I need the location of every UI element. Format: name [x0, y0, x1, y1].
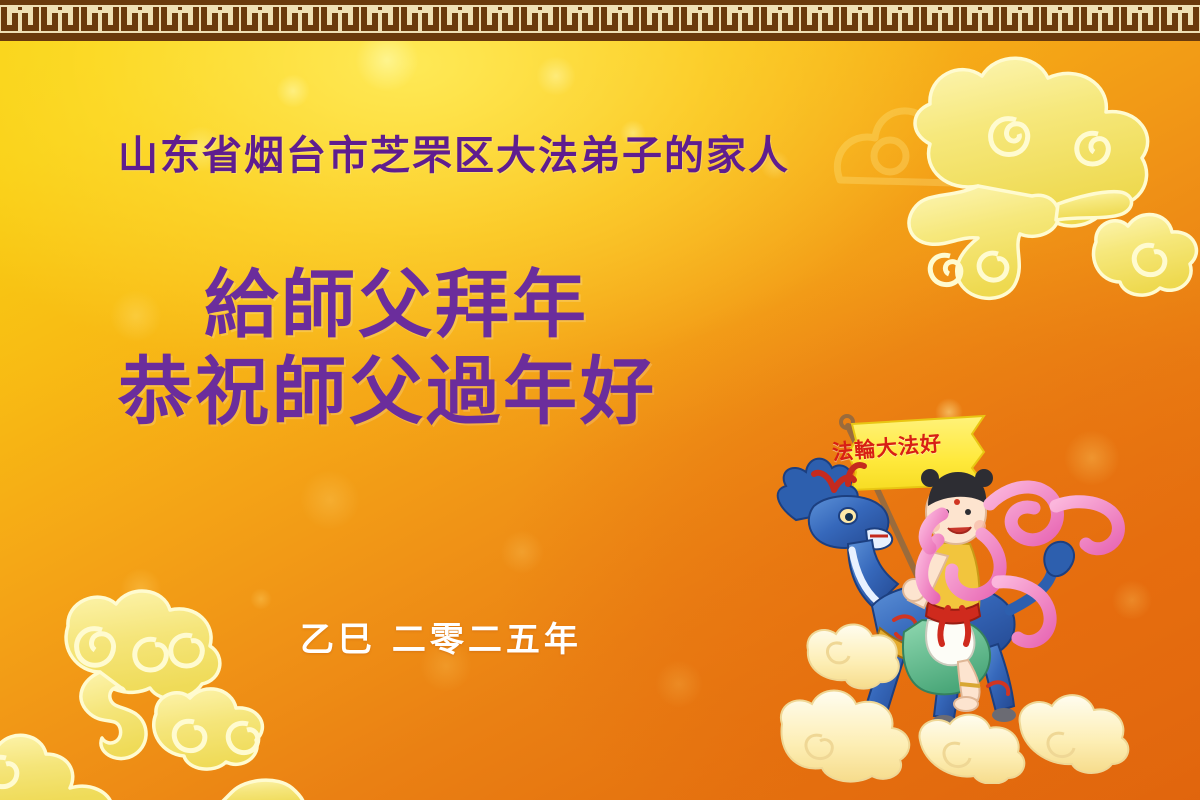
cloud-top-right-decoration [810, 42, 1200, 372]
bokeh-dot [120, 568, 162, 610]
dragon-figure [778, 459, 1074, 733]
greeting-block: 給師父拜年 恭祝師父過年好 [118, 268, 657, 431]
cloud-ghost-decoration [820, 60, 1050, 220]
cloud-bottom-left-decoration [0, 556, 310, 800]
bokeh-dot [536, 56, 576, 96]
sender-line: 山东省烟台市芝罘区大法弟子的家人 [118, 136, 790, 176]
bokeh-dot [655, 660, 703, 708]
dragon-rider-artwork [752, 394, 1172, 784]
bokeh-dot [250, 588, 272, 610]
new-year-greeting-card: 山东省烟台市芝罘区大法弟子的家人 給師父拜年 恭祝師父過年好 乙巳 二零二五年 [0, 0, 1200, 800]
greeting-line-1: 給師父拜年 [118, 268, 657, 343]
cloud-base [781, 624, 1128, 783]
meander-pattern-icon [0, 0, 1200, 38]
date-line: 乙巳 二零二五年 [300, 612, 582, 661]
bokeh-dot [935, 398, 963, 426]
bokeh-dot [1064, 430, 1120, 486]
top-meander-border [0, 0, 1200, 41]
bokeh-dot [300, 470, 360, 530]
pennant-banner-icon [848, 416, 984, 490]
child-riding-dragon-illustration: 法輪大法好 [752, 394, 1172, 784]
banner-text: 法輪大法好 [801, 425, 973, 470]
bokeh-dot [276, 74, 310, 108]
flag-pole-icon [841, 416, 920, 582]
child-rider-figure [903, 469, 993, 711]
pink-ribbon-sash [922, 487, 1119, 642]
greeting-line-2: 恭祝師父過年好 [118, 355, 657, 430]
bokeh-dot [1112, 580, 1152, 620]
bokeh-dot [500, 530, 544, 574]
